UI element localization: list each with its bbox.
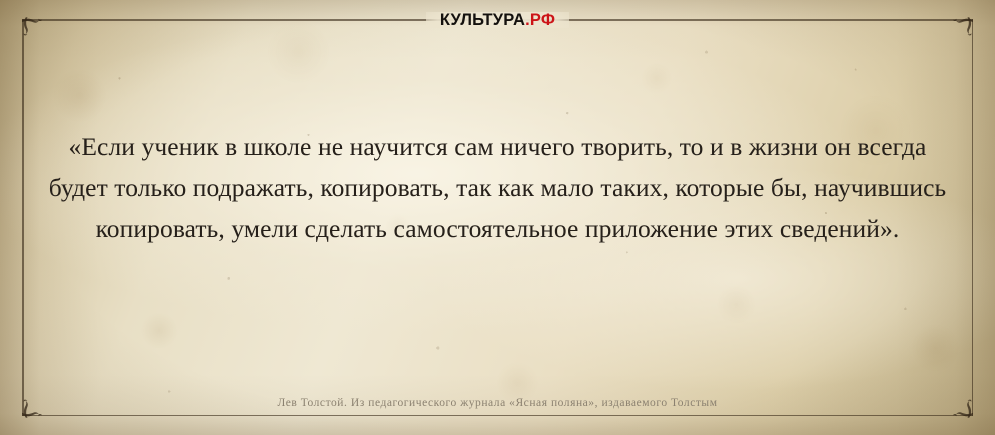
quote-text: «Если ученик в школе не научится сам нич… [38, 126, 957, 249]
quote-card: КУЛЬТУРА.РФ «Если ученик в школе не науч… [0, 0, 995, 435]
attribution-block: Лев Толстой. Из педагогического журнала … [0, 397, 995, 409]
logo-plate: КУЛЬТУРА.РФ [426, 12, 569, 29]
logo-text-primary: КУЛЬТУРА [440, 12, 525, 29]
site-logo[interactable]: КУЛЬТУРА.РФ [0, 10, 995, 30]
attribution-text: Лев Толстой. Из педагогического журнала … [0, 397, 995, 409]
quote-block: «Если ученик в школе не научится сам нич… [38, 126, 957, 249]
logo-text-tld: .РФ [525, 12, 555, 29]
